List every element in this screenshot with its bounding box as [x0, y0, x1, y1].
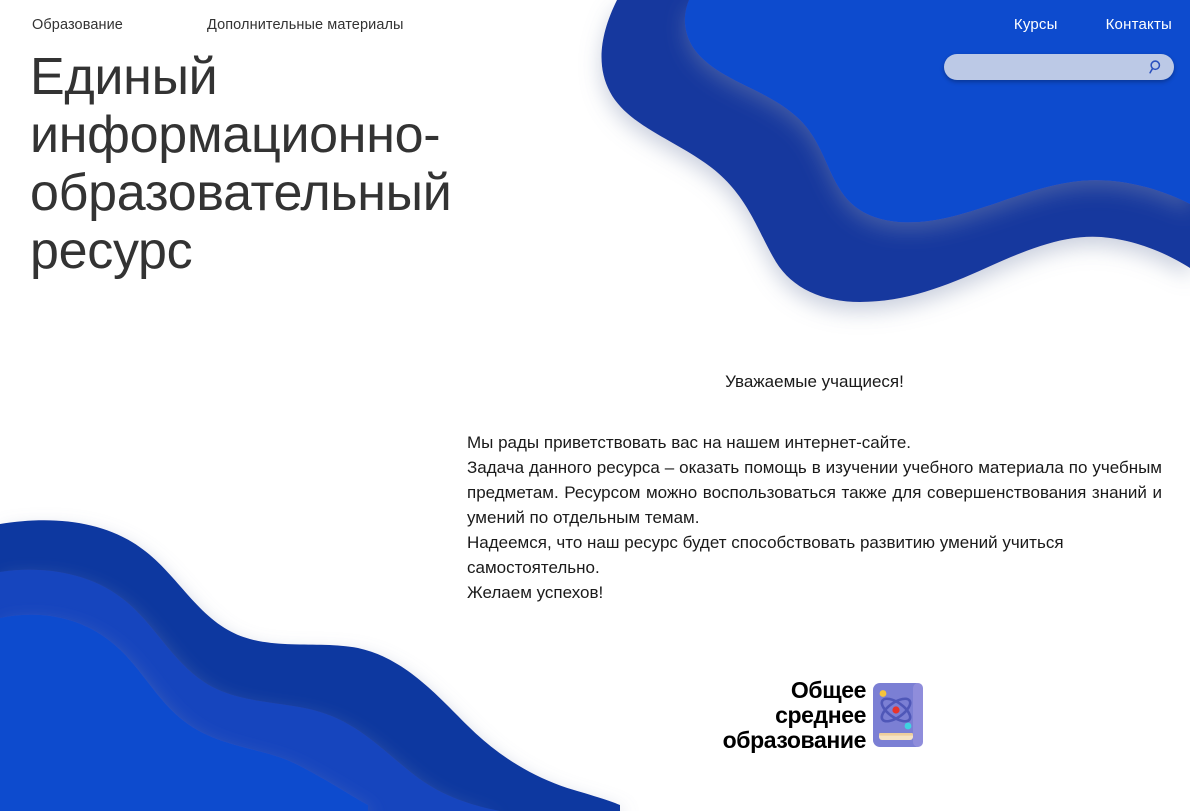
book-atom-icon — [872, 682, 924, 748]
search-container — [944, 54, 1174, 80]
welcome-body: Мы рады приветствовать вас на нашем инте… — [467, 430, 1162, 605]
primary-nav-right: Курсы Контакты — [1014, 15, 1172, 34]
logo[interactable]: Общее среднее образование — [664, 672, 924, 758]
logo-line-2: среднее — [723, 703, 866, 728]
nav-item-kursy[interactable]: Курсы — [1014, 15, 1058, 34]
page-root: Образование Дополнительные материалы Кур… — [0, 0, 1190, 811]
search-input[interactable] — [944, 54, 1174, 80]
welcome-paragraph-1: Мы рады приветствовать вас на нашем инте… — [467, 430, 1162, 455]
wave-bottom-bright — [0, 615, 368, 811]
logo-text: Общее среднее образование — [723, 678, 866, 753]
wave-bottom-mid — [0, 570, 500, 811]
nav-item-dopolnitelnye-materialy[interactable]: Дополнительные материалы — [207, 16, 404, 34]
welcome-paragraph-3: Надеемся, что наш ресурс будет способств… — [467, 530, 1162, 580]
top-navigation-bar: Образование Дополнительные материалы Кур… — [0, 0, 1190, 92]
welcome-paragraph-2: Задача данного ресурса – оказать помощь … — [467, 455, 1162, 530]
nav-item-obrazovanie[interactable]: Образование — [32, 16, 123, 34]
welcome-section: Уважаемые учащиеся! Мы рады приветствова… — [467, 370, 1162, 605]
primary-nav-left: Образование Дополнительные материалы — [32, 16, 404, 34]
logo-line-1: Общее — [723, 678, 866, 703]
welcome-heading: Уважаемые учащиеся! — [467, 370, 1162, 394]
nav-item-kontakty[interactable]: Контакты — [1106, 15, 1172, 34]
logo-line-3: образование — [723, 728, 866, 753]
welcome-paragraph-4: Желаем успехов! — [467, 580, 1162, 605]
